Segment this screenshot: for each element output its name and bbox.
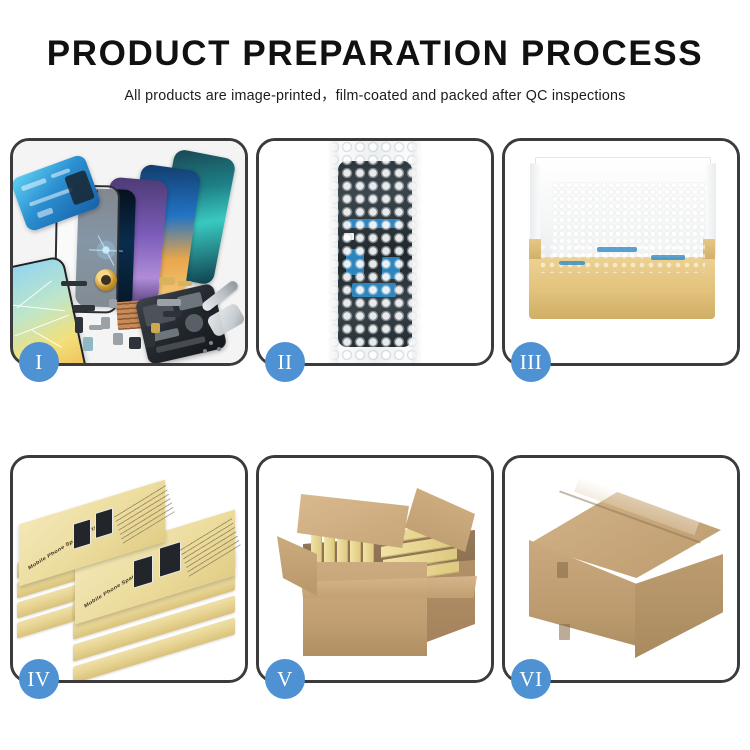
copper-coil-icon <box>95 269 117 291</box>
kraft-tray-icon <box>529 257 715 319</box>
step-panel-4: Mobile Phone Spare Parts Mobile Phone Sp… <box>10 455 248 683</box>
product-preparation-infographic: PRODUCT PREPARATION PROCESS All products… <box>0 0 750 750</box>
retail-box-stack-icon: Mobile Phone Spare Parts Mobile Phone Sp… <box>15 478 245 668</box>
step-panel-1: I <box>10 138 248 366</box>
step-badge-4: IV <box>19 659 59 699</box>
step-panel-5: V <box>256 455 494 683</box>
step-panel-6: VI <box>502 455 740 683</box>
step-3-image <box>505 141 737 363</box>
open-carton-icon <box>277 484 477 664</box>
step-5-image <box>259 458 491 680</box>
page-title: PRODUCT PREPARATION PROCESS <box>0 0 750 73</box>
sealed-carton-icon <box>525 482 725 664</box>
inner-box-icon <box>529 157 715 329</box>
step-2-image <box>259 141 491 363</box>
step-4-image: Mobile Phone Spare Parts Mobile Phone Sp… <box>13 458 245 680</box>
bubble-wrap-bag-icon <box>328 141 422 363</box>
step-panel-3: III <box>502 138 740 366</box>
step-badge-1: I <box>19 342 59 382</box>
header: PRODUCT PREPARATION PROCESS All products… <box>0 0 750 105</box>
step-panel-2: II <box>256 138 494 366</box>
page-subtitle: All products are image-printed，film-coat… <box>0 73 750 105</box>
step-badge-5: V <box>265 659 305 699</box>
steps-grid: I II <box>10 138 740 683</box>
step-badge-3: III <box>511 342 551 382</box>
step-badge-2: II <box>265 342 305 382</box>
step-badge-6: VI <box>511 659 551 699</box>
step-1-image <box>13 141 245 363</box>
step-6-image <box>505 458 737 680</box>
wrapped-screens-icon <box>539 243 705 273</box>
